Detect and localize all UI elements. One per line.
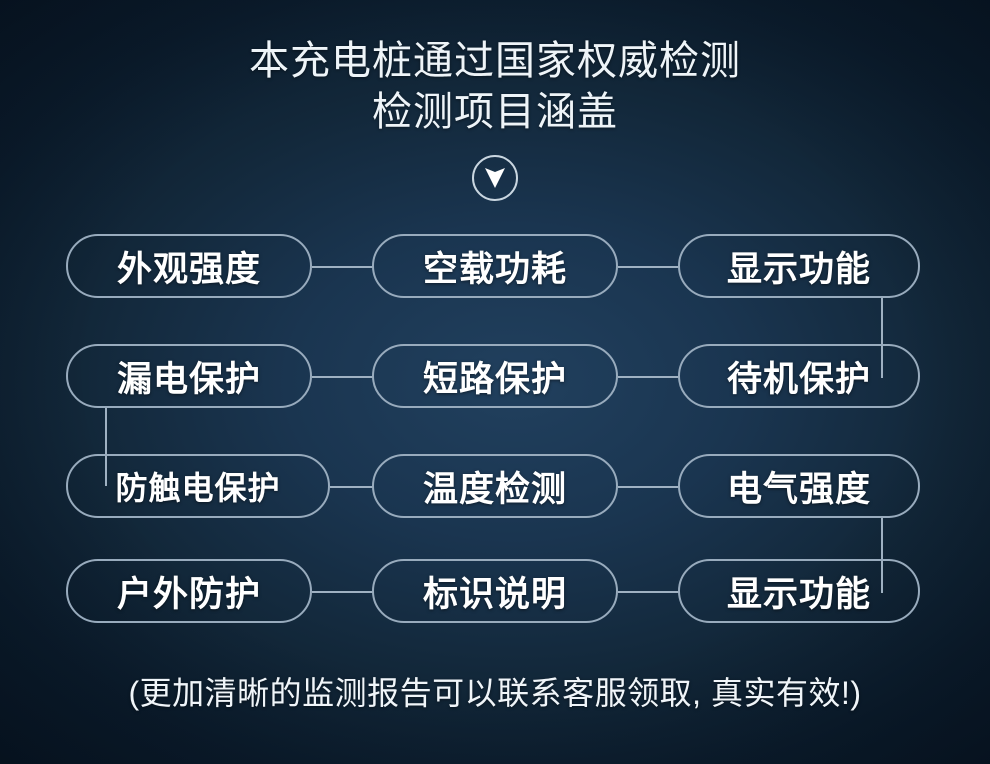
footer-caption: (更加清晰的监测报告可以联系客服领取, 真实有效!)	[0, 668, 990, 714]
item-pill-r4c2[interactable]: 标识说明	[372, 559, 618, 623]
title-line-1: 本充电桩通过国家权威检测	[0, 36, 990, 87]
item-pill-r3c2[interactable]: 温度检测	[372, 454, 618, 518]
promo-banner: 本充电桩通过国家权威检测 检测项目涵盖 外观强度 空载功耗 显示功能	[0, 0, 990, 764]
connector-r1c1-r1c2	[312, 266, 374, 268]
item-pill-r2c3[interactable]: 待机保护	[678, 344, 920, 408]
connector-r2c2-r2c3	[618, 376, 680, 378]
item-pill-r1c3[interactable]: 显示功能	[678, 234, 920, 298]
item-pill-r2c2[interactable]: 短路保护	[372, 344, 618, 408]
item-pill-r3c1[interactable]: 防触电保护	[66, 454, 330, 518]
item-pill-r1c1[interactable]: 外观强度	[66, 234, 312, 298]
connector-r4c2-r4c3	[618, 591, 680, 593]
title-line-2: 检测项目涵盖	[0, 87, 990, 138]
chevron-down-circle-icon	[472, 155, 518, 201]
page-title: 本充电桩通过国家权威检测 检测项目涵盖	[0, 36, 990, 138]
item-pill-r1c2[interactable]: 空载功耗	[372, 234, 618, 298]
item-pill-r4c1[interactable]: 户外防护	[66, 559, 312, 623]
chevron-down-badge	[0, 155, 990, 201]
connector-r2c1-r2c2	[312, 376, 374, 378]
item-pill-r2c1[interactable]: 漏电保护	[66, 344, 312, 408]
connector-r3c1-r3c2	[330, 486, 374, 488]
connector-r4c1-r4c2	[312, 591, 374, 593]
item-pill-r3c3[interactable]: 电气强度	[678, 454, 920, 518]
connector-r3c2-r3c3	[618, 486, 680, 488]
connector-r1c2-r1c3	[618, 266, 680, 268]
item-pill-r4c3[interactable]: 显示功能	[678, 559, 920, 623]
